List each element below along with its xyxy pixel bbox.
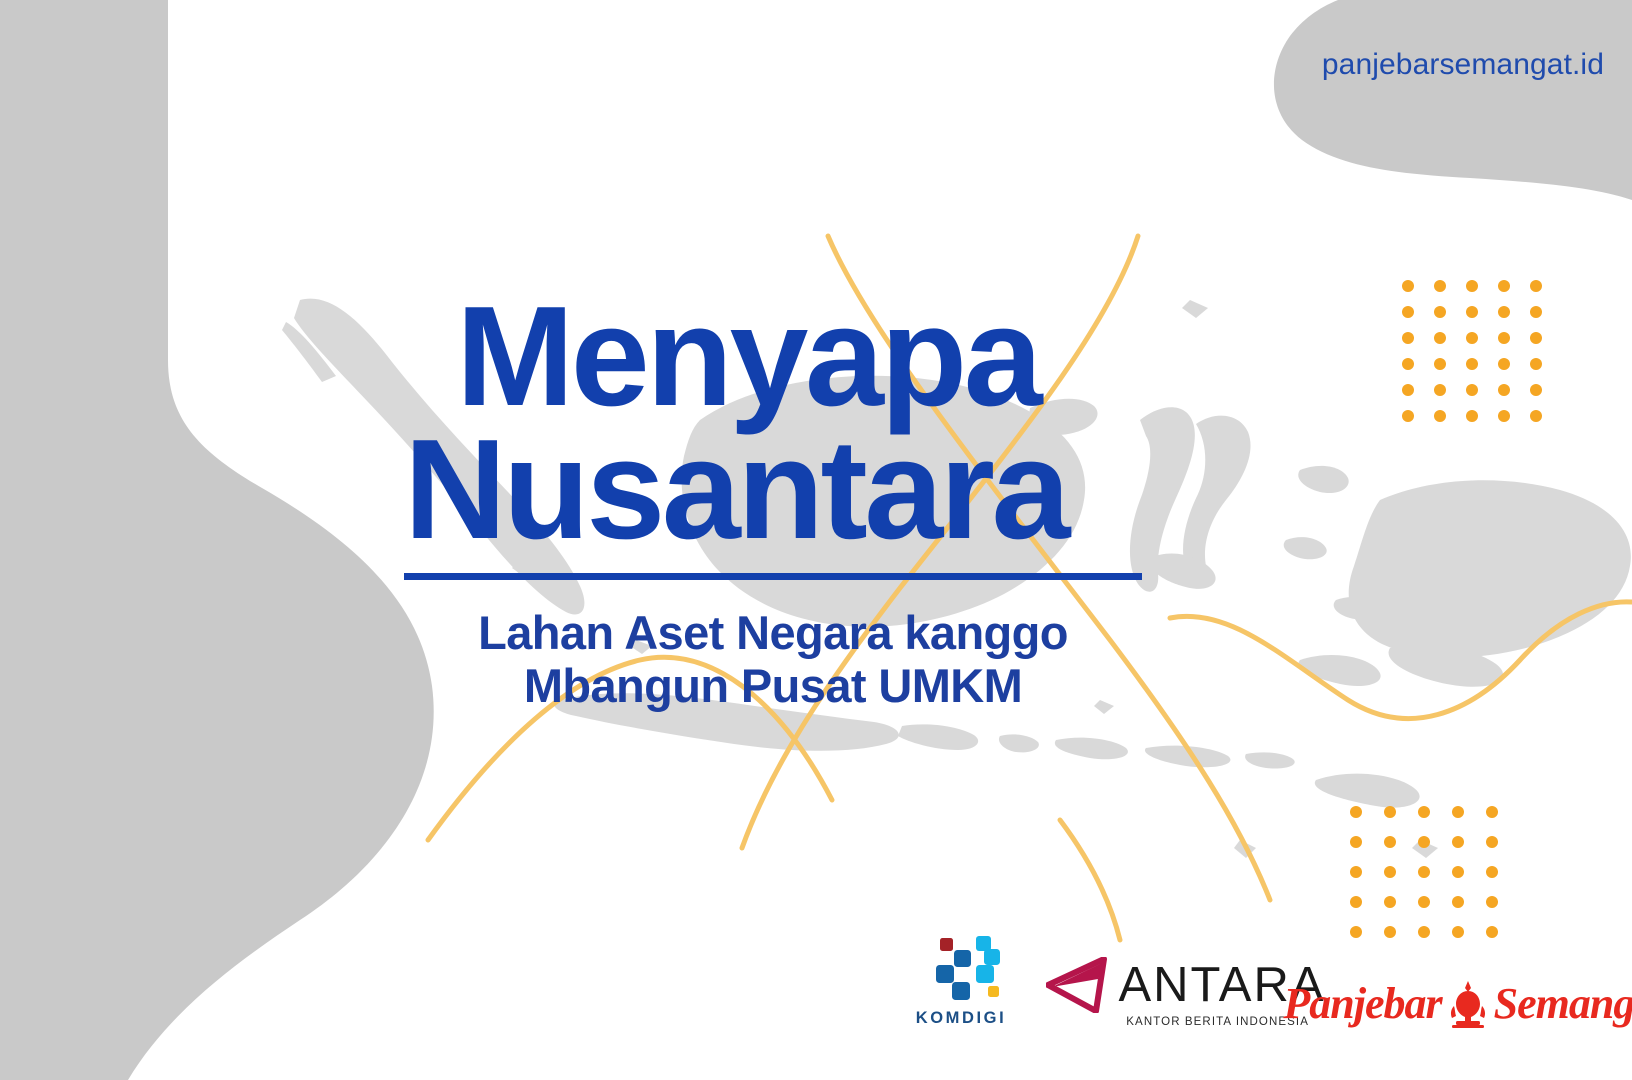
partner-logo-row: KOMDIGI ANTARA KANTOR BERITA INDONESIA P… <box>905 936 1595 1028</box>
antara-tagline: KANTOR BERITA INDONESIA <box>1126 1016 1309 1028</box>
poster-canvas: panjebarsemangat.id Menyapa Nusantara La… <box>0 0 1632 1080</box>
panjebar-word: Panjebar <box>1283 982 1441 1026</box>
subtitle-block: Lahan Aset Negara kanggo Mbangun Pusat U… <box>404 607 1142 712</box>
subtitle-line-2: Mbangun Pusat UMKM <box>404 660 1142 713</box>
subtitle-line-1: Lahan Aset Negara kanggo <box>404 607 1142 660</box>
logo-komdigi: KOMDIGI <box>905 936 1017 1028</box>
title-divider-rule <box>404 573 1142 580</box>
headline-block: Menyapa Nusantara Lahan Aset Negara kang… <box>404 290 1164 712</box>
komdigi-wordmark: KOMDIGI <box>916 1009 1007 1028</box>
komdigi-pixel-blocks-icon <box>918 936 1004 1004</box>
page-title-line-1: Menyapa <box>404 290 1164 423</box>
logo-panjebar-semangat: Panjebar Semangat <box>1355 980 1595 1028</box>
page-title-line-2: Nusantara <box>404 423 1164 556</box>
antara-triangle-icon <box>1046 957 1110 1013</box>
site-url-label: panjebarsemangat.id <box>1322 48 1604 82</box>
logo-antara: ANTARA KANTOR BERITA INDONESIA <box>1061 957 1311 1028</box>
panjebar-semangat-emblem-icon <box>1446 980 1490 1028</box>
semangat-word: Semangat <box>1494 982 1632 1026</box>
panjebar-semangat-lockup: Panjebar Semangat <box>1283 980 1632 1028</box>
